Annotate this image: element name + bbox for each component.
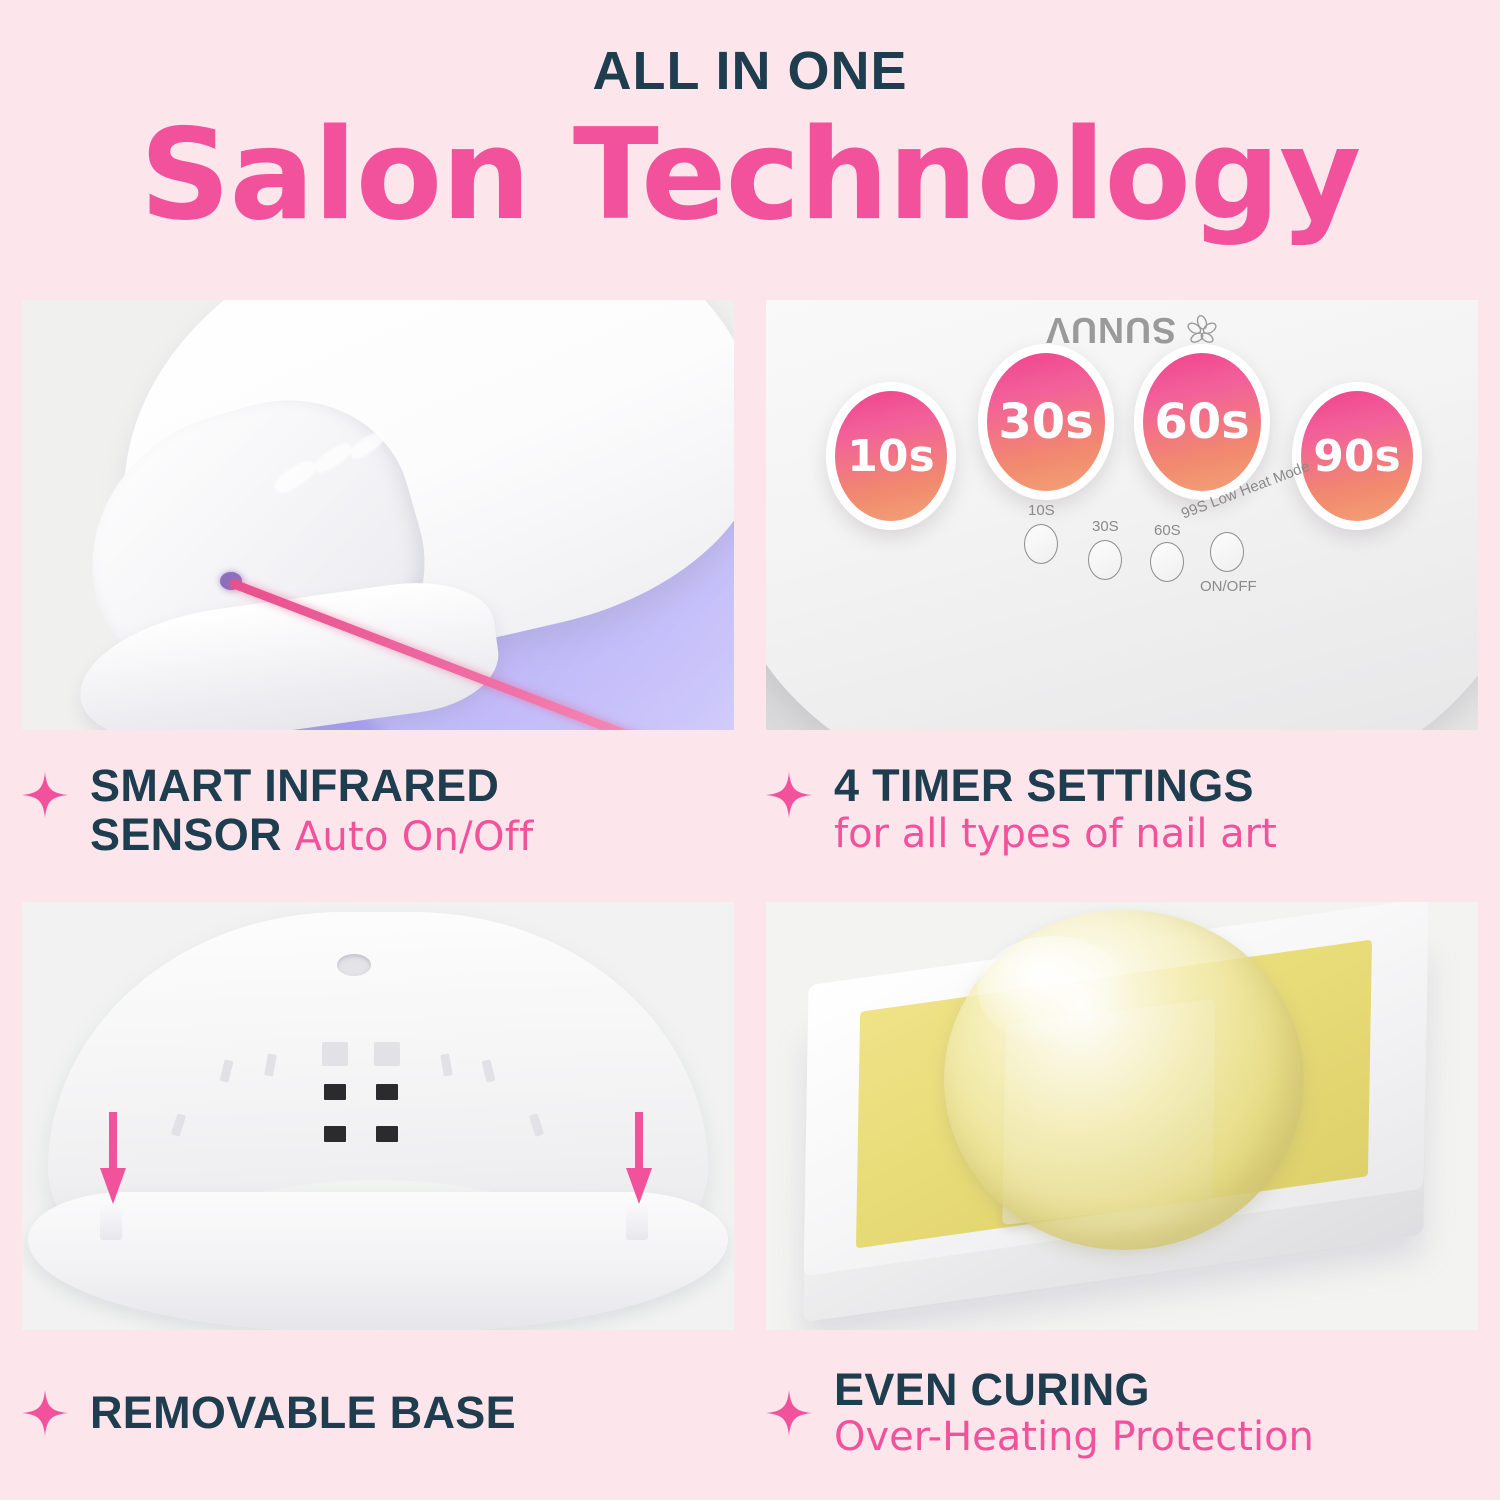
device-button-99s-low-heat[interactable] [1210,532,1244,572]
device-power-label: ON/OFF [1200,578,1257,595]
feature-image-even-curing [766,902,1478,1330]
feature-image-4-timer-settings: SUNUV 10s 30s 60s 90s 10S 30S 60S [766,300,1478,730]
feature-subtitle: Auto On/Off [295,814,534,860]
feature-caption-removable-base: REMOVABLE BASE [22,1330,734,1470]
dome-sensor-hole [337,954,371,976]
feature-title-line2: SENSOR [90,809,282,860]
device-button-label-60s: 60S [1154,522,1181,539]
down-arrow-icon [622,1112,656,1204]
dome-led-dark [376,1126,398,1142]
device-button-label-99s-low-heat-mode: 99S Low Heat Mode [1179,458,1312,523]
feature-caption-4-timer-settings: 4 TIMER SETTINGS for all types of nail a… [766,730,1478,902]
header-kicker: ALL IN ONE [0,44,1500,98]
feature-image-removable-base [22,902,734,1330]
sparkle-icon [22,1390,68,1436]
feature-subtitle: for all types of nail art [834,811,1277,857]
dome-led [322,1042,348,1066]
sparkle-icon [766,1390,812,1436]
base-alignment-peg [626,1200,648,1240]
feature-title-line1: SMART INFRARED [90,762,534,811]
down-arrow-icon [96,1112,130,1204]
dome-led-dark [376,1084,398,1100]
base-alignment-peg [100,1200,122,1240]
feature-title-line2-row: SENSOR Auto On/Off [90,811,534,860]
device-button-row: 10S 30S 60S 99S Low Heat Mode ON/OFF [766,300,1478,730]
page-header: ALL IN ONE Salon Technology [0,0,1500,242]
feature-image-smart-infrared-sensor [22,300,734,730]
device-button-label-30s: 30S [1092,518,1119,535]
feature-grid: SUNUV 10s 30s 60s 90s 10S 30S 60S [22,300,1478,1470]
dome-led-dark [324,1126,346,1142]
led-lens-highlight [978,936,1128,1046]
device-button-10s[interactable] [1024,524,1058,564]
dome-led-dark [324,1084,346,1100]
sparkle-icon [766,772,812,818]
page-title: Salon Technology [0,108,1500,242]
device-button-30s[interactable] [1088,540,1122,580]
dome-led [374,1042,400,1066]
feature-title: REMOVABLE BASE [90,1389,516,1438]
feature-title: 4 TIMER SETTINGS [834,762,1277,811]
feature-caption-even-curing: EVEN CURING Over-Heating Protection [766,1330,1478,1470]
feature-title: EVEN CURING [834,1366,1314,1415]
feature-subtitle: Over-Heating Protection [834,1414,1314,1460]
feature-caption-smart-infrared-sensor: SMART INFRARED SENSOR Auto On/Off [22,730,734,902]
device-button-60s[interactable] [1150,542,1184,582]
sparkle-icon [22,772,68,818]
device-button-label-10s: 10S [1028,502,1055,519]
